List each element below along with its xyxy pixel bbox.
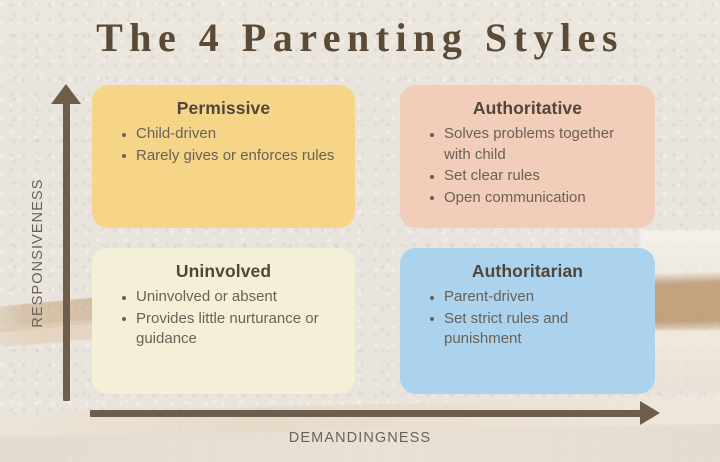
quadrant-card-uninvolved: Uninvolved Uninvolved or absent Provides… [92,248,355,394]
list-item: Open communication [430,188,641,209]
y-axis-line [63,96,70,401]
x-axis-arrow-icon [640,401,660,425]
infographic-canvas: The 4 Parenting Styles RESPONSIVENESS DE… [0,0,720,462]
list-item: Set clear rules [430,166,641,187]
quadrant-title-authoritarian: Authoritarian [400,261,655,282]
list-item: Set strict rules and punishment [430,309,641,350]
quadrant-title-uninvolved: Uninvolved [92,261,355,282]
quadrant-title-authoritative: Authoritative [400,98,655,119]
page-title: The 4 Parenting Styles [0,14,720,61]
x-axis-label: DEMANDINGNESS [0,430,720,446]
quadrant-bullets-uninvolved: Uninvolved or absent Provides little nur… [92,287,355,350]
list-item: Rarely gives or enforces rules [122,146,341,167]
background-band-right [653,271,720,335]
list-item: Child-driven [122,124,341,145]
list-item: Parent-driven [430,287,641,308]
list-item: Solves problems together with child [430,124,641,165]
x-axis-line [90,410,646,417]
quadrant-bullets-permissive: Child-driven Rarely gives or enforces ru… [92,124,355,166]
quadrant-bullets-authoritarian: Parent-driven Set strict rules and punis… [400,287,655,350]
list-item: Uninvolved or absent [122,287,341,308]
quadrant-card-authoritative: Authoritative Solves problems together w… [400,85,655,228]
background-band-right-bottom [648,330,720,390]
list-item: Provides little nurturance or guidance [122,309,341,350]
y-axis-label: RESPONSIVENESS [30,153,46,353]
quadrant-bullets-authoritative: Solves problems together with child Set … [400,124,655,208]
quadrant-card-permissive: Permissive Child-driven Rarely gives or … [92,85,355,228]
quadrant-card-authoritarian: Authoritarian Parent-driven Set strict r… [400,248,655,394]
quadrant-title-permissive: Permissive [92,98,355,119]
